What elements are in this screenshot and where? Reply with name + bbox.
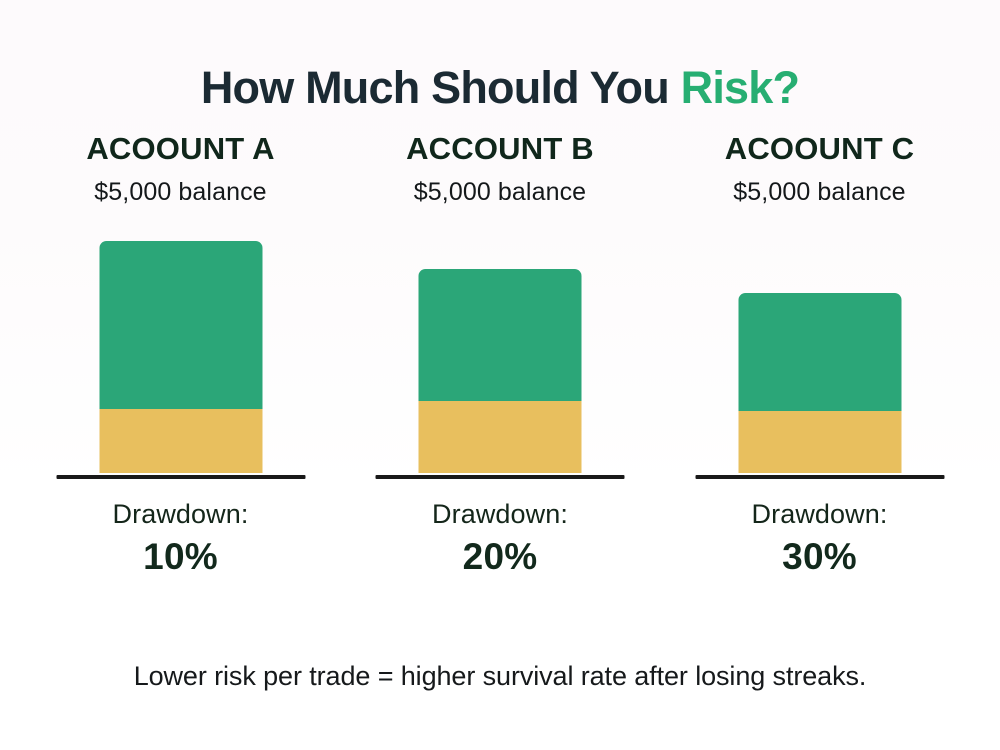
account-balance: $5,000 balance [94, 178, 266, 207]
bar-chart-b [348, 231, 653, 481]
account-column-a: ACOOUNT A $5,000 balance Drawdown: 10% [28, 133, 333, 613]
account-column-b: ACCOUNT B $5,000 balance Drawdown: 20% [348, 133, 653, 613]
risk-infographic: How Much Should You Risk? ACOOUNT A $5,0… [0, 0, 1000, 750]
page-title-lead: How Much Should You [201, 62, 681, 113]
drawdown-value: 10% [143, 536, 218, 578]
bar-segment-drawdown [738, 411, 901, 473]
account-balance: $5,000 balance [733, 178, 905, 207]
bar-segment-remaining-capital [99, 241, 262, 409]
account-columns: ACOOUNT A $5,000 balance Drawdown: 10% A… [0, 133, 1000, 613]
bar-segment-drawdown [419, 401, 582, 473]
stacked-bar [99, 241, 262, 473]
account-column-c: ACOOUNT C $5,000 balance Drawdown: 30% [667, 133, 972, 613]
bar-segment-remaining-capital [419, 269, 582, 401]
bar-segment-remaining-capital [738, 293, 901, 411]
account-name: ACOOUNT A [86, 133, 274, 166]
bar-segment-drawdown [99, 409, 262, 473]
stacked-bar [419, 269, 582, 473]
account-balance: $5,000 balance [414, 178, 586, 207]
footer-caption: Lower risk per trade = higher survival r… [0, 661, 1000, 692]
page-title-accent: Risk? [681, 62, 800, 113]
stacked-bar [738, 293, 901, 473]
drawdown-value: 30% [782, 536, 857, 578]
bar-chart-a [28, 231, 333, 481]
bar-baseline [376, 475, 625, 479]
drawdown-value: 20% [463, 536, 538, 578]
account-name: ACCOUNT B [406, 133, 594, 166]
page-title: How Much Should You Risk? [0, 62, 1000, 114]
drawdown-label: Drawdown: [752, 499, 888, 530]
drawdown-label: Drawdown: [432, 499, 568, 530]
account-name: ACOOUNT C [725, 133, 915, 166]
drawdown-label: Drawdown: [113, 499, 249, 530]
bar-chart-c [667, 231, 972, 481]
bar-baseline [695, 475, 944, 479]
bar-baseline [56, 475, 305, 479]
